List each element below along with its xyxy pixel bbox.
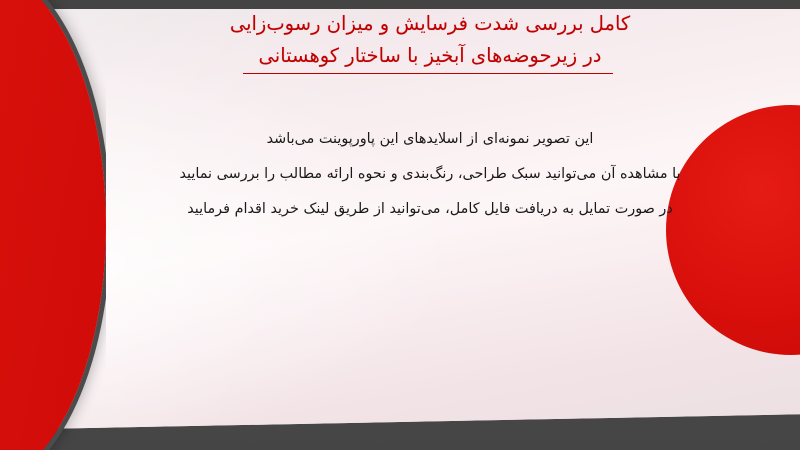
presentation-slide: کامل بررسی شدت فرسایش و میزان رسوب‌زایی … (0, 0, 800, 450)
slide-title-line-2: در زیرحوضه‌های آبخیز با ساختار کوهستانی (259, 44, 602, 67)
slide-body-line-2: با مشاهده آن می‌توانید سبک طراحی، رنگ‌بن… (130, 157, 730, 192)
slide-body-line-1: این تصویر نمونه‌ای از اسلایدهای این پاور… (130, 122, 730, 157)
slide-body: این تصویر نمونه‌ای از اسلایدهای این پاور… (130, 122, 730, 227)
slide-title-line-1: کامل بررسی شدت فرسایش و میزان رسوب‌زایی (120, 8, 740, 40)
title-underline-rule (243, 73, 614, 75)
slide-title-line-2-wrapper: در زیرحوضه‌های آبخیز با ساختار کوهستانی (259, 40, 602, 72)
slide-body-line-3: در صورت تمایل به دریافت فایل کامل، می‌تو… (130, 192, 730, 227)
slide-text-content: کامل بررسی شدت فرسایش و میزان رسوب‌زایی … (0, 0, 800, 450)
slide-title: کامل بررسی شدت فرسایش و میزان رسوب‌زایی … (120, 8, 740, 71)
